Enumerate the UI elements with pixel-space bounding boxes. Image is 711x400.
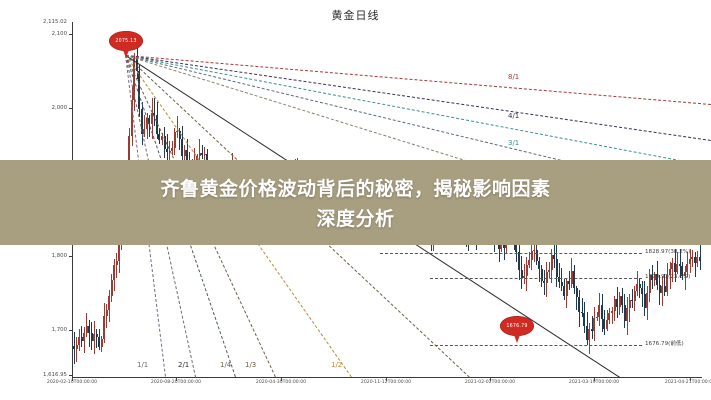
fib-level-label-382: 1828.97(38.2%) bbox=[645, 250, 690, 256]
candle-wick bbox=[639, 279, 640, 298]
fib-level-label-prevlow: 1676.79(前低) bbox=[645, 342, 684, 348]
x-tick-label: 2021-02-02T00:00:00 bbox=[465, 381, 515, 386]
candle-wick bbox=[89, 320, 90, 347]
candle-wick bbox=[96, 329, 97, 348]
fan-label-4-1: 4/1 bbox=[508, 113, 519, 120]
candle-body bbox=[699, 257, 701, 261]
chart-title: 黄金日线 bbox=[0, 7, 711, 23]
fan-label-8-1: 8/1 bbox=[508, 74, 519, 81]
fan-label-1-4: 1/4 bbox=[220, 362, 231, 369]
fib-level-line-382 bbox=[380, 253, 642, 254]
x-tick-label: 2020-08-20T00:00:00 bbox=[151, 381, 201, 386]
x-tick-label: 2020-04-30T00:00:00 bbox=[256, 381, 306, 386]
candle-wick bbox=[612, 307, 613, 324]
screenshot-root: 黄金日线 2,115.02 2,100 2,000 1,900 1,800 1,… bbox=[0, 0, 711, 400]
fib-level-label-236: 1770.91(23.6%) bbox=[645, 275, 690, 281]
fib-level-line-236 bbox=[430, 278, 642, 279]
y-tick-label: 2,100 bbox=[0, 32, 72, 37]
fan-label-1-2: 1/2 bbox=[331, 362, 342, 369]
x-tick-label: 2020-11-12T00:00:00 bbox=[361, 381, 411, 386]
candle-wick bbox=[116, 253, 117, 278]
article-title-banner: 齐鲁黄金价格波动背后的秘密，揭秘影响因素 深度分析 bbox=[0, 160, 711, 245]
banner-title-line-1: 齐鲁黄金价格波动背后的秘密，揭秘影响因素 bbox=[160, 174, 550, 201]
x-axis bbox=[72, 377, 702, 378]
banner-title-line-2: 深度分析 bbox=[316, 204, 394, 231]
fan-label-1-1: 1/1 bbox=[137, 362, 148, 369]
candle-wick bbox=[524, 264, 525, 285]
x-tick-label: 2021-04-21T00:00:00 bbox=[665, 381, 711, 386]
fan-line-3-1 bbox=[126, 55, 711, 166]
y-tick-label: 1,616.95 bbox=[0, 373, 72, 378]
marker-swing-high[interactable]: 2075.13 bbox=[109, 31, 143, 51]
fan-label-1-3: 1/3 bbox=[245, 362, 256, 369]
fib-level-line-prevlow bbox=[430, 345, 642, 346]
marker-swing-low[interactable]: 1676.79 bbox=[500, 316, 534, 336]
candle-wick bbox=[642, 281, 643, 307]
y-tick-label: 1,700 bbox=[0, 328, 72, 333]
candle bbox=[699, 245, 701, 270]
candle-wick bbox=[632, 289, 633, 308]
candle-wick bbox=[695, 252, 696, 277]
candle-wick bbox=[582, 298, 583, 317]
candle-wick bbox=[559, 263, 560, 288]
candle-wick bbox=[76, 337, 77, 361]
x-tick-label: 2020-02-10T00:00:00 bbox=[47, 381, 97, 386]
y-tick-label: 2,000 bbox=[0, 106, 72, 111]
x-tick-label: 2021-03-19T00:00:00 bbox=[569, 381, 619, 386]
candle-wick bbox=[561, 268, 562, 291]
fan-label-2-1: 2/1 bbox=[178, 362, 189, 369]
fan-label-3-1: 3/1 bbox=[508, 140, 519, 147]
candle-wick bbox=[592, 316, 593, 338]
y-tick-label: 1,800 bbox=[0, 254, 72, 259]
candle-wick bbox=[202, 145, 203, 159]
y-tick-label: 2,115.02 bbox=[0, 20, 72, 25]
